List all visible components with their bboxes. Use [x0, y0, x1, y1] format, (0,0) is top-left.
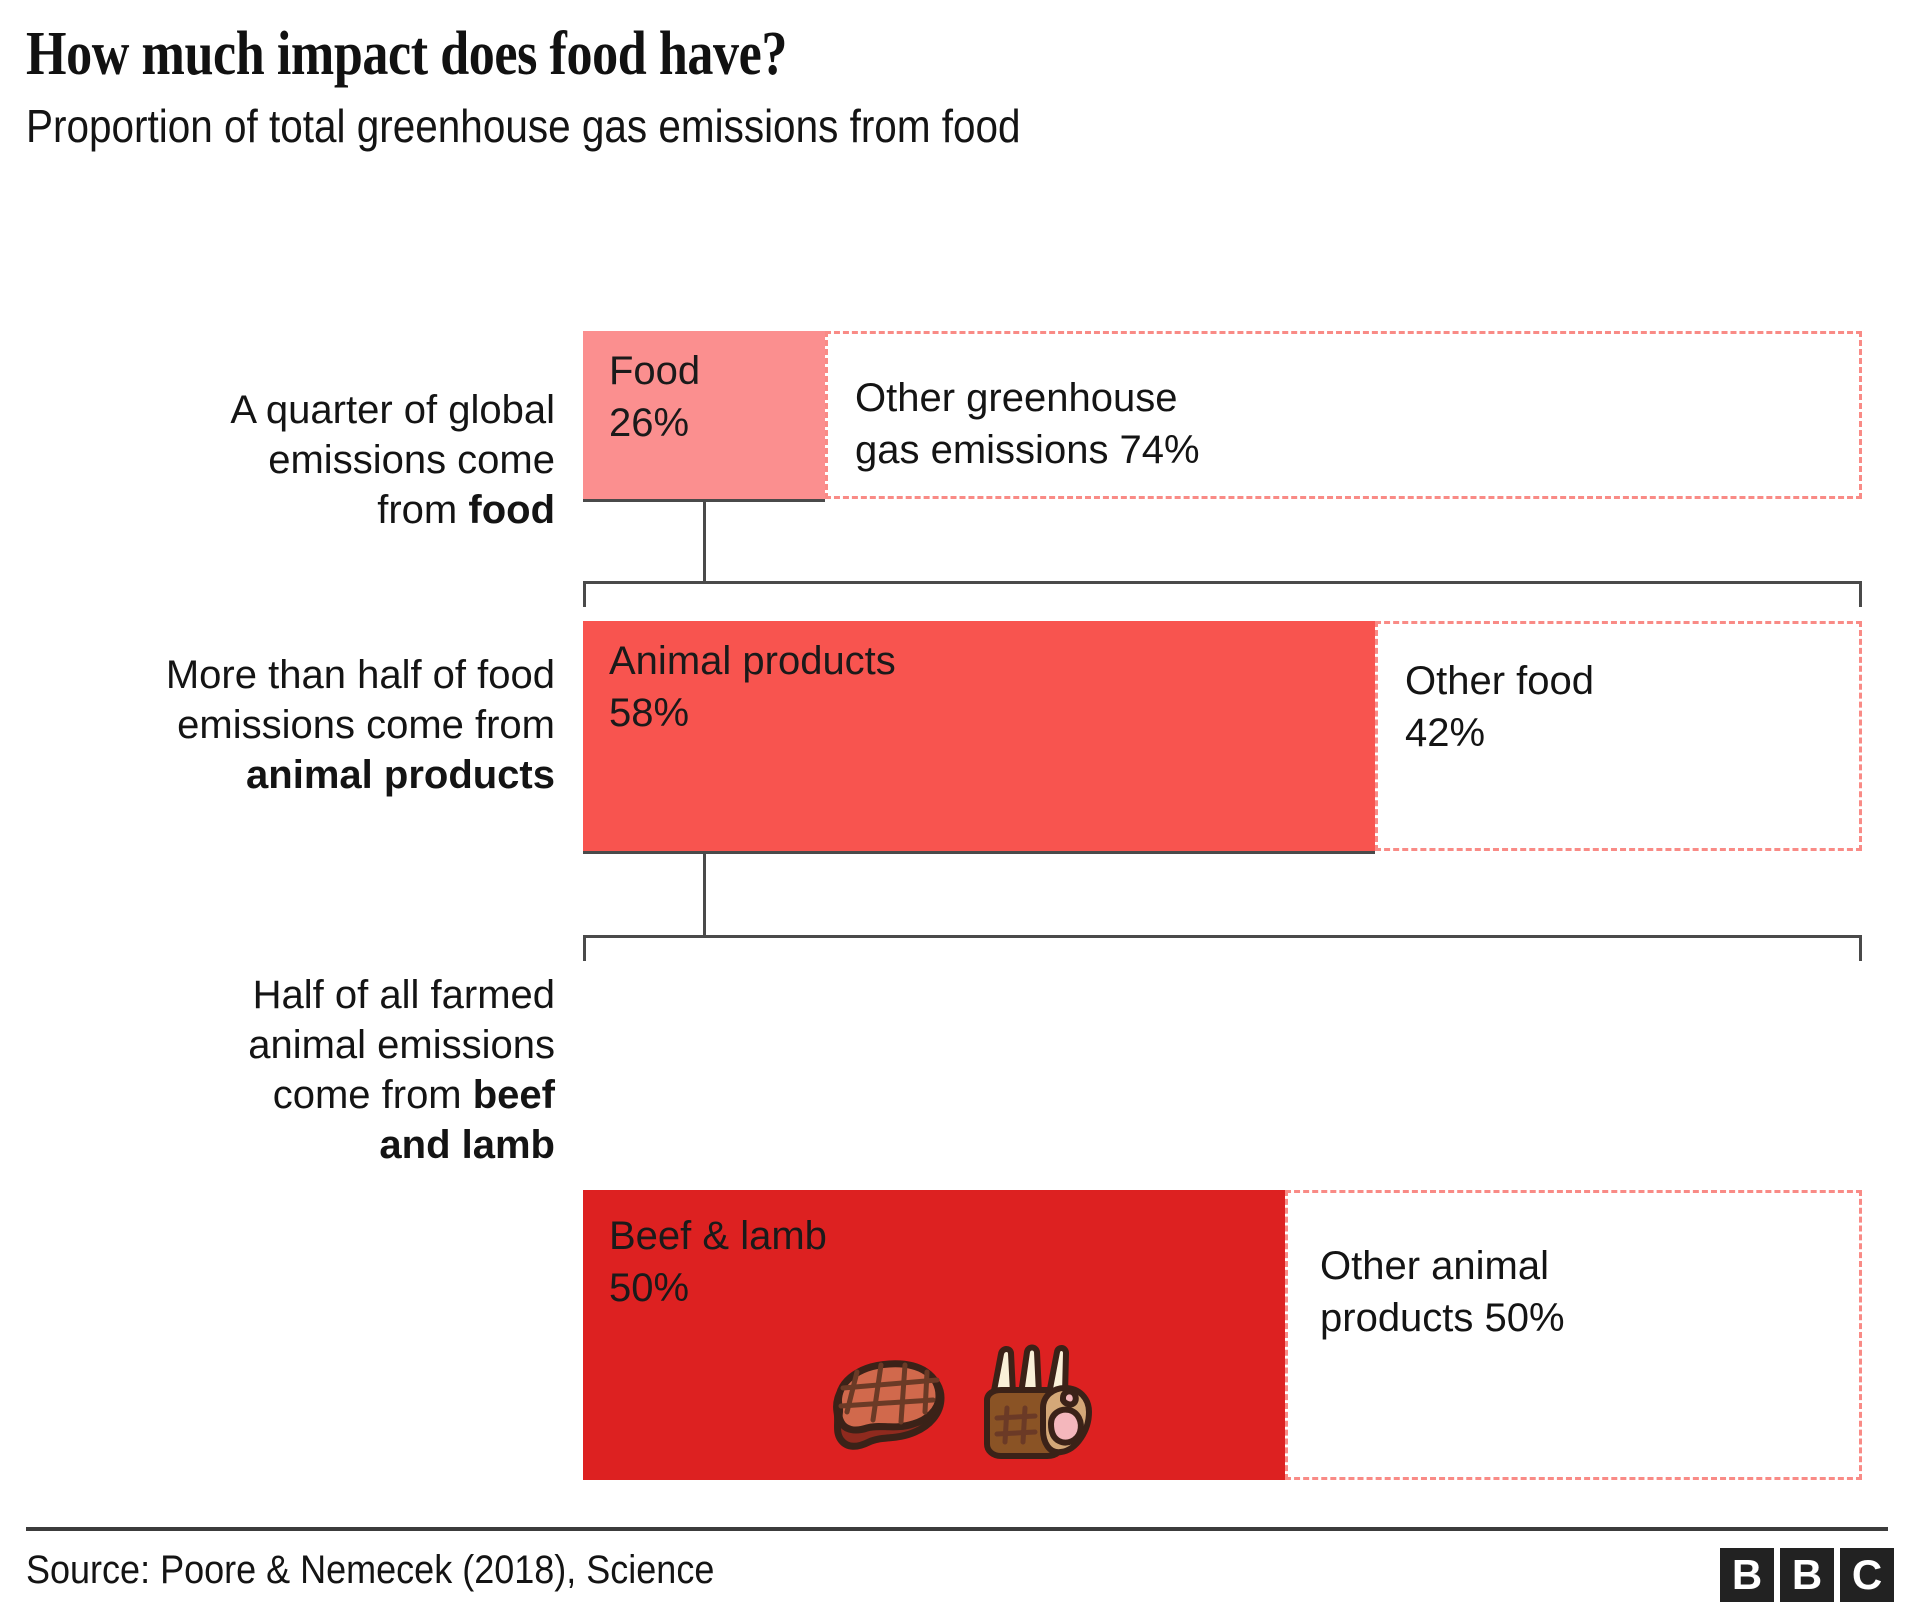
row3-remainder-line1: Other animal [1320, 1240, 1860, 1292]
row2-label-line3-bold: animal products [246, 753, 555, 797]
row-label-beef-lamb: Half of all farmed animal emissions come… [120, 970, 555, 1170]
row3-label-line3: come from beef [120, 1070, 555, 1120]
infographic-page: How much impact does food have? Proporti… [0, 0, 1920, 1614]
bar-food-text: Food 26% [609, 345, 700, 449]
bar-food-value: 26% [609, 397, 700, 449]
row2-remainder-line2: 42% [1405, 707, 1855, 759]
row1-remainder-line1: Other greenhouse [855, 372, 1835, 424]
bar-beef-lamb-value: 50% [609, 1262, 827, 1314]
source-text: Source: Poore & Nemecek (2018), Science [26, 1545, 714, 1595]
row2-remainder-line1: Other food [1405, 655, 1855, 707]
connector-row2-right-tick [1859, 581, 1862, 607]
connector-row3-top [583, 935, 1862, 938]
row2-label-line2: emissions come from [40, 700, 555, 750]
row3-label-line1: Half of all farmed [120, 970, 555, 1020]
row1-label-line3-bold: food [468, 488, 555, 532]
connector-row2-top [583, 581, 1862, 584]
bar-food-name: Food [609, 345, 700, 397]
row3-label-line4: and lamb [120, 1120, 555, 1170]
bar-animal-products-text: Animal products 58% [609, 635, 896, 739]
row1-label-line3-plain: from [377, 488, 468, 532]
row2-label-line3: animal products [40, 750, 555, 800]
row1-label-line1: A quarter of global [120, 385, 555, 435]
connector-row3-right-tick [1859, 935, 1862, 961]
bar-beef-lamb: Beef & lamb 50% [583, 1190, 1285, 1480]
row3-label-line4-bold: and lamb [379, 1123, 555, 1167]
bbc-logo: B B C [1720, 1548, 1894, 1602]
bar-animal-products: Animal products 58% [583, 621, 1375, 851]
meat-icons-group [823, 1338, 1097, 1470]
bbc-logo-letter-1: B [1720, 1548, 1774, 1602]
row3-label-line3-bold: beef [473, 1073, 555, 1117]
row1-remainder-line2: gas emissions 74% [855, 424, 1835, 476]
remainder-text-row1: Other greenhouse gas emissions 74% [855, 372, 1835, 476]
bbc-logo-letter-2: B [1780, 1548, 1834, 1602]
remainder-text-row3: Other animal products 50% [1320, 1240, 1860, 1344]
row3-label-line3-plain: come from [273, 1073, 473, 1117]
lamb-chop-icon [965, 1338, 1097, 1470]
connector-row2-bottom [583, 851, 1375, 854]
row-label-food: A quarter of global emissions come from … [120, 385, 555, 535]
bar-beef-lamb-text: Beef & lamb 50% [609, 1210, 827, 1314]
chart-area: A quarter of global emissions come from … [0, 0, 1920, 1614]
remainder-text-row2: Other food 42% [1405, 655, 1855, 759]
row1-label-line3: from food [120, 485, 555, 535]
row3-remainder-line2: products 50% [1320, 1292, 1860, 1344]
bar-animal-products-name: Animal products [609, 635, 896, 687]
row1-label-line2: emissions come [120, 435, 555, 485]
row2-label-line1: More than half of food [40, 650, 555, 700]
row3-label-line2: animal emissions [120, 1020, 555, 1070]
bar-beef-lamb-name: Beef & lamb [609, 1210, 827, 1262]
steak-icon [823, 1350, 951, 1470]
footer-divider [26, 1527, 1888, 1531]
bar-animal-products-value: 58% [609, 687, 896, 739]
connector-row3-left-tick [583, 935, 586, 961]
connector-row2-left-tick [583, 581, 586, 607]
row-label-animal-products: More than half of food emissions come fr… [40, 650, 555, 800]
bbc-logo-letter-3: C [1840, 1548, 1894, 1602]
connector-row2-to-row3-vertical [703, 851, 706, 937]
bar-food: Food 26% [583, 331, 825, 499]
connector-row1-to-row2-vertical [703, 499, 706, 583]
